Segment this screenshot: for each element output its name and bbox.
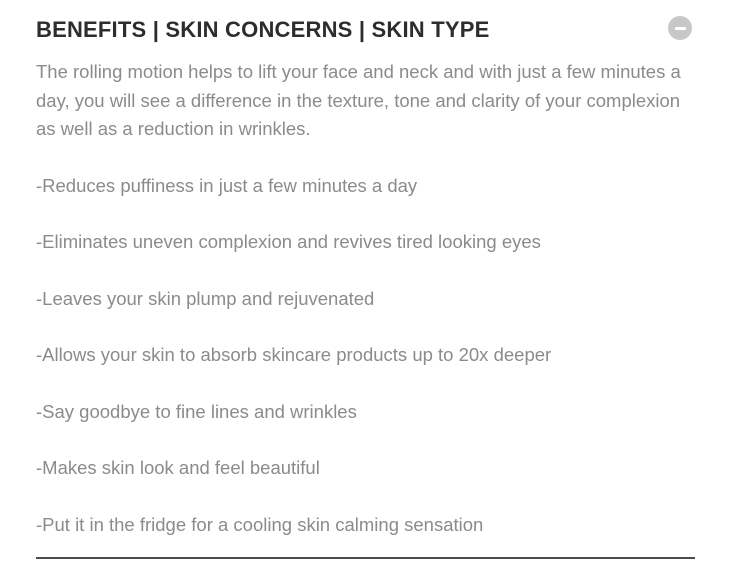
benefit-list: -Reduces puffiness in just a few minutes… <box>36 172 696 540</box>
list-item: -Allows your skin to absorb skincare pro… <box>36 341 696 370</box>
minus-glyph <box>675 27 686 30</box>
accordion-panel: BENEFITS | SKIN CONCERNS | SKIN TYPE The… <box>0 0 732 566</box>
list-item: -Makes skin look and feel beautiful <box>36 454 696 483</box>
list-item: -Say goodbye to fine lines and wrinkles <box>36 398 696 427</box>
minus-circle-icon[interactable] <box>668 16 692 40</box>
list-item: -Reduces puffiness in just a few minutes… <box>36 172 696 201</box>
page-title: BENEFITS | SKIN CONCERNS | SKIN TYPE <box>36 18 489 42</box>
section-divider <box>36 557 695 559</box>
list-item: -Put it in the fridge for a cooling skin… <box>36 511 696 540</box>
accordion-content: The rolling motion helps to lift your fa… <box>36 56 696 539</box>
accordion-header[interactable]: BENEFITS | SKIN CONCERNS | SKIN TYPE <box>36 0 696 56</box>
intro-paragraph: The rolling motion helps to lift your fa… <box>36 58 696 144</box>
list-item: -Eliminates uneven complexion and revive… <box>36 228 696 257</box>
list-item: -Leaves your skin plump and rejuvenated <box>36 285 696 314</box>
